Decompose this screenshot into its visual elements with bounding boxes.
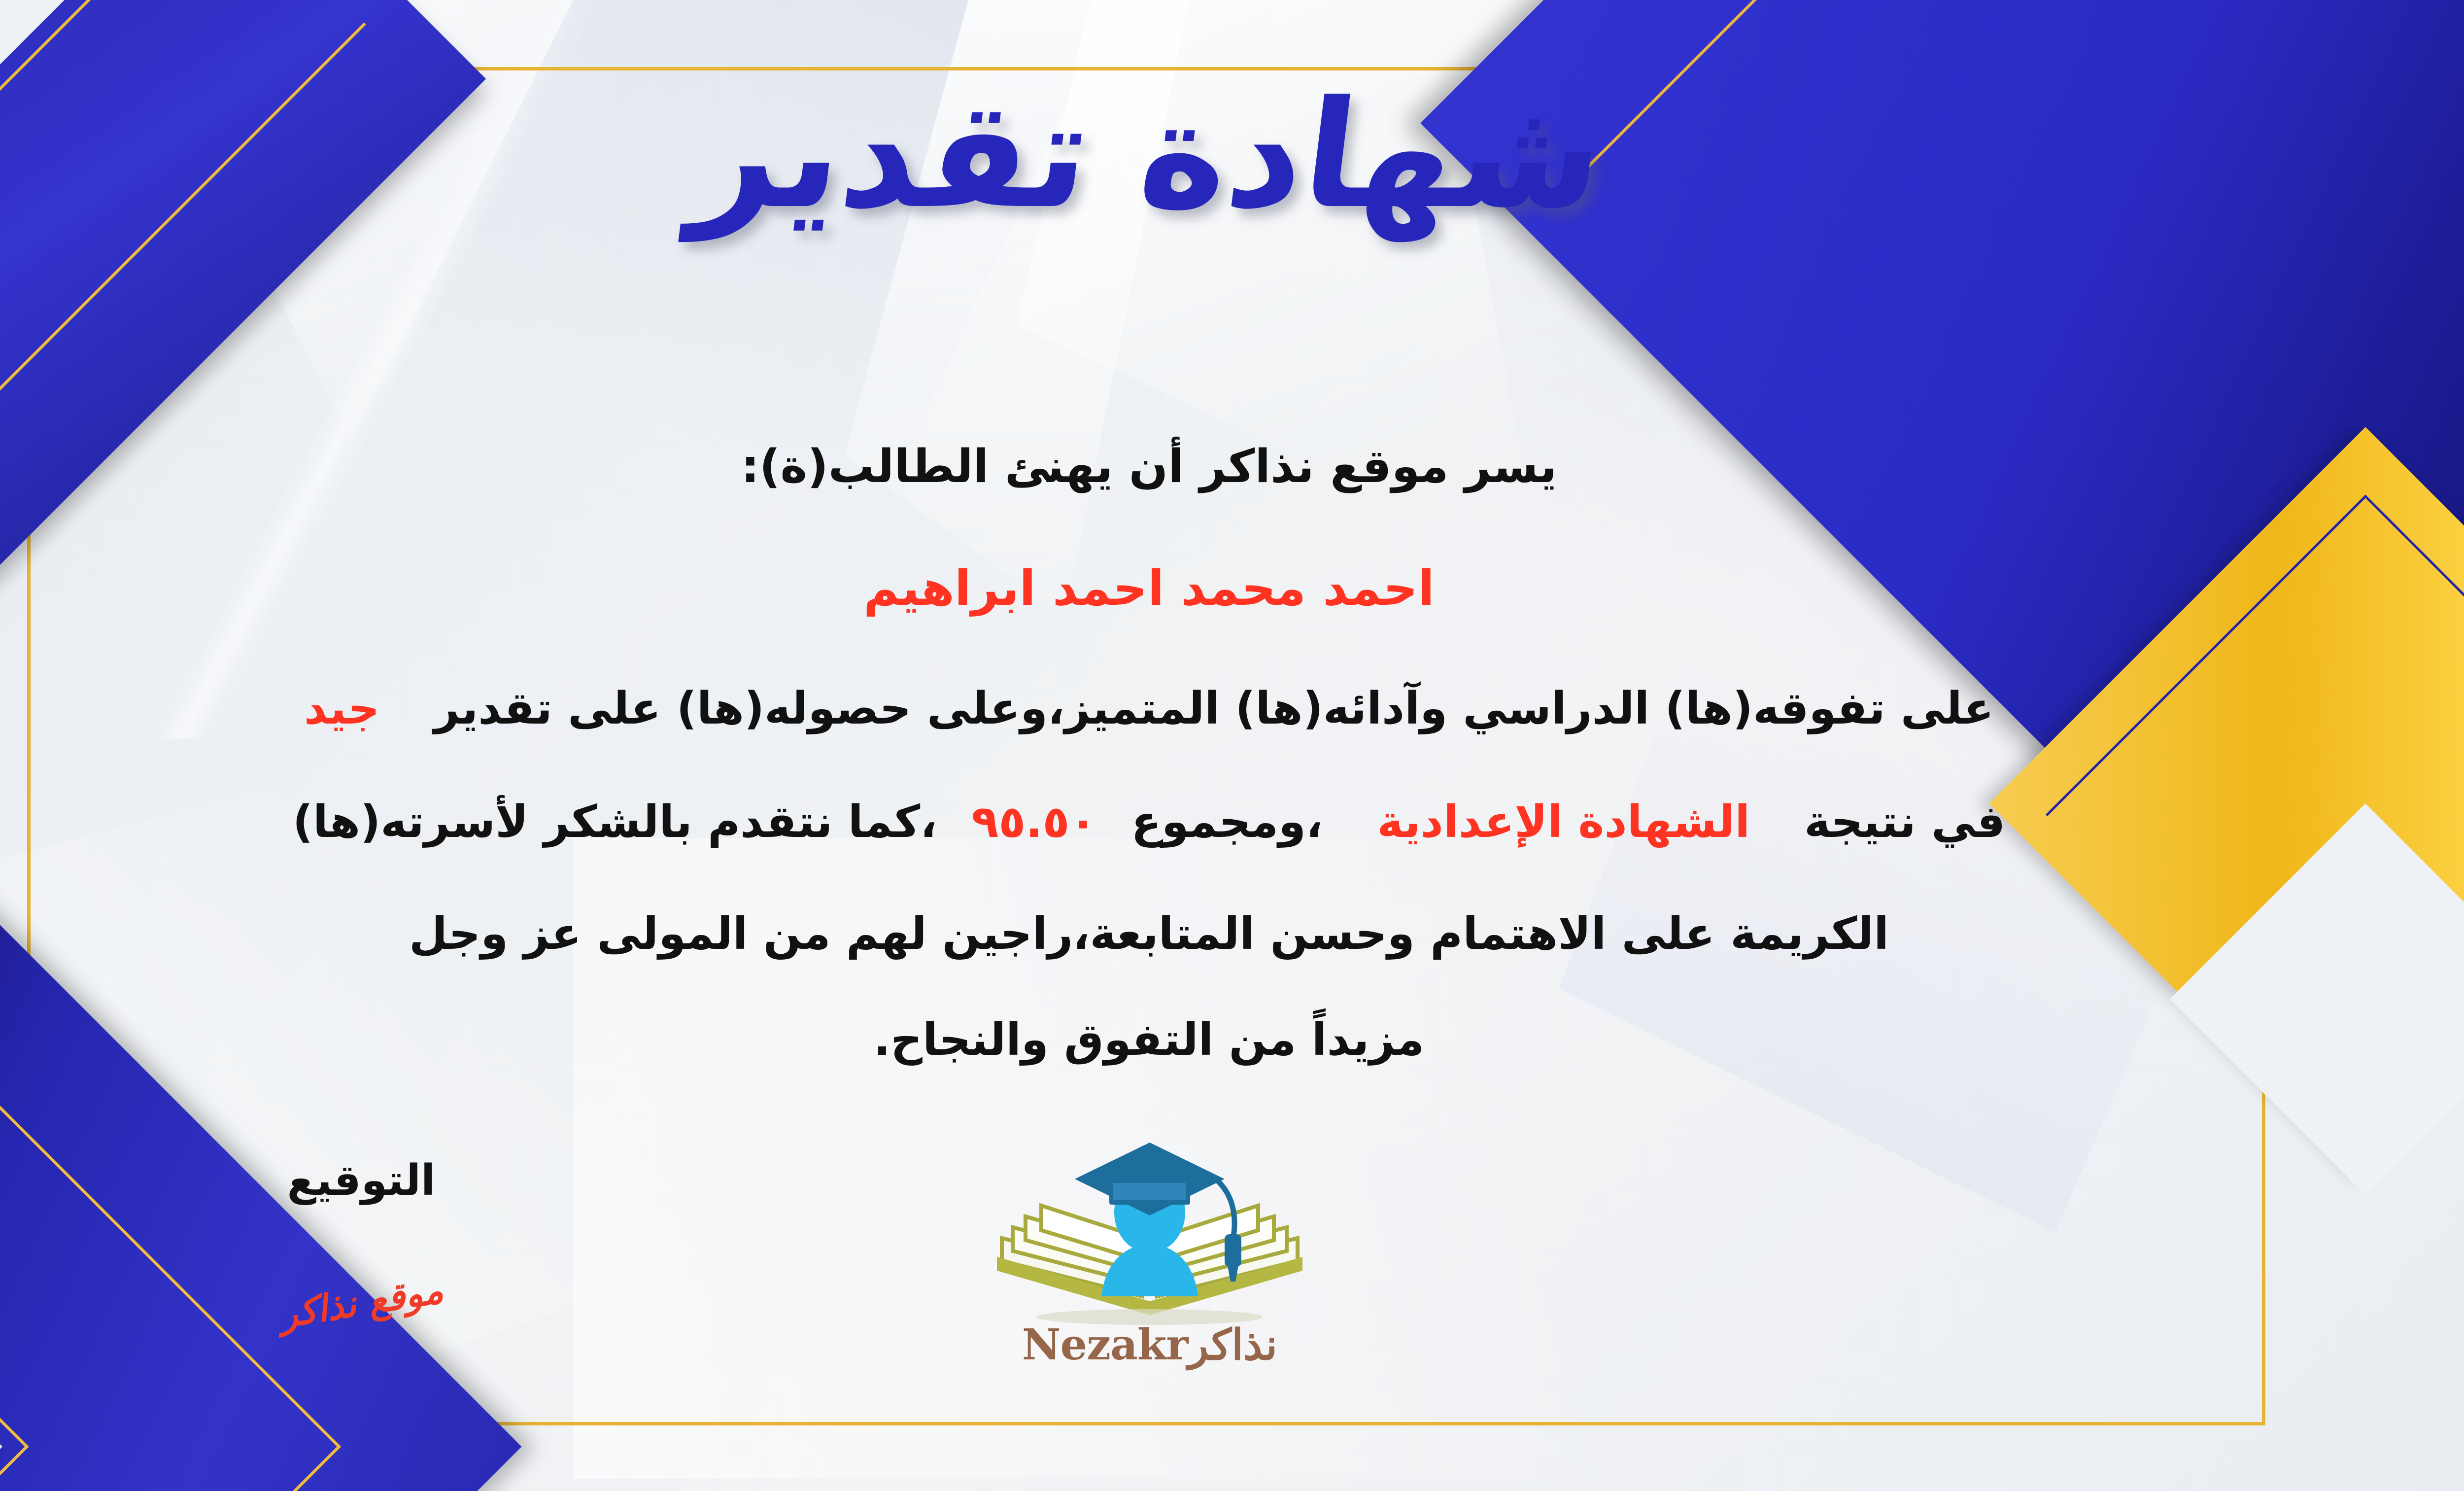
signature-label: التوقيع <box>208 1156 514 1205</box>
closing-line: مزيداً من التفوق والنجاح. <box>46 1018 2252 1062</box>
family-thanks-line: الكريمة على الاهتمام وحسن المتابعة،راجين… <box>46 912 2252 956</box>
graduate-book-icon <box>967 1134 1332 1331</box>
grade-value: جيد <box>304 683 380 734</box>
handwritten-signature: موقع نذاكر <box>207 1258 515 1348</box>
achievement-line: على تفوقه(ها) الدراسي وآدائه(ها) المتميز… <box>46 687 2252 731</box>
total-score: ٩٥.٥٠ <box>971 796 1096 848</box>
thanks-text: ،كما نتقدم بالشكر لأسرته(ها) <box>293 796 937 848</box>
certificate-canvas: شهادة تقدير يسر موقع نذاكر أن يهنئ الطال… <box>0 0 2464 1491</box>
intro-line: يسر موقع نذاكر أن يهنئ الطالب(ة): <box>0 444 2464 489</box>
logo-name-en: Nezakr <box>1022 1320 1188 1370</box>
exam-line: في نتيجةالشهادة الإعدادية،ومجموع٩٥.٥٠،كم… <box>46 800 2252 844</box>
brand-logo: نذاكرNezakr <box>967 1134 1332 1410</box>
logo-name-ar: نذاكر <box>1188 1320 1277 1370</box>
achievement-text: على تفوقه(ها) الدراسي وآدائه(ها) المتميز… <box>434 683 1994 734</box>
total-label: ،ومجموع <box>1131 796 1323 848</box>
logo-wordmark: نذاكرNezakr <box>967 1320 1332 1370</box>
exam-prefix: في نتيجة <box>1804 796 2005 848</box>
exam-name: الشهادة الإعدادية <box>1377 796 1750 848</box>
student-name: احمد محمد احمد ابراهيم <box>0 564 2464 613</box>
certificate-content: شهادة تقدير يسر موقع نذاكر أن يهنئ الطال… <box>0 0 2464 1491</box>
certificate-title: شهادة تقدير <box>0 81 2464 229</box>
